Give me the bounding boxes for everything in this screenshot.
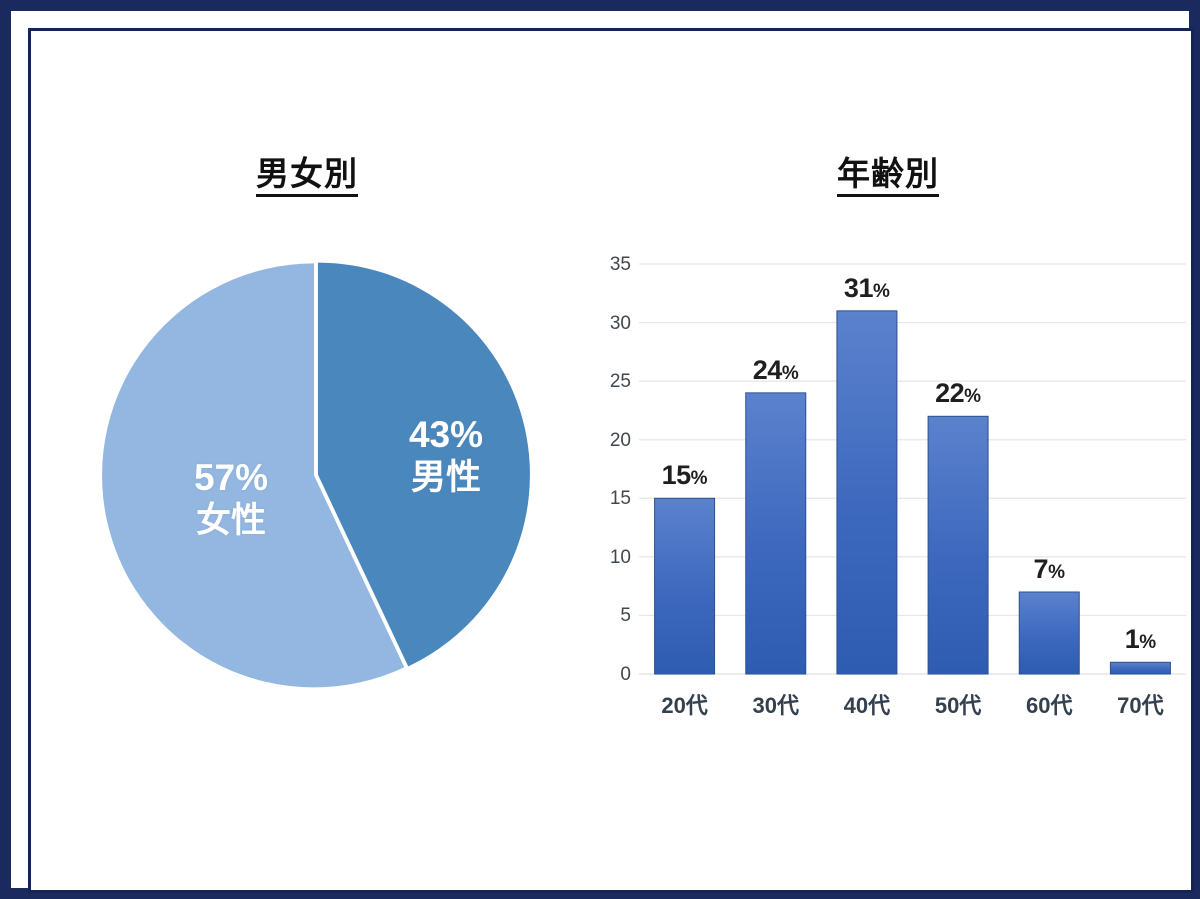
bar-value-number: 1: [1125, 624, 1140, 654]
bar-70代: [1110, 662, 1170, 674]
bar-60代: [1019, 592, 1079, 674]
bar-20代: [655, 498, 715, 674]
y-axis-labels: 05101520253035: [591, 236, 631, 696]
bar-value-number: 31: [844, 273, 873, 303]
bar-50代: [928, 416, 988, 674]
y-axis-tick-label: 10: [597, 548, 631, 567]
bar-value-label: 31%: [812, 273, 922, 304]
bar-value-label: 24%: [721, 355, 831, 386]
y-axis-tick-label: 25: [597, 372, 631, 391]
x-axis-tick-label: 70代: [1095, 688, 1185, 720]
x-axis-tick-label: 50代: [913, 688, 1003, 720]
bar-value-label: 7%: [994, 554, 1104, 585]
age-chart-title: 年齢別: [837, 156, 939, 197]
bar-30代: [746, 393, 806, 674]
bar-value-label: 22%: [903, 378, 1013, 409]
bar-value-percent-sign: %: [1048, 562, 1065, 583]
x-axis-tick-label: 30代: [731, 688, 821, 720]
x-axis-tick-label: 20代: [640, 688, 730, 720]
bar-40代: [837, 311, 897, 674]
slide-canvas: 男女別 43% 男性 57% 女性 年齢別: [31, 31, 1191, 890]
bar-value-label: 1%: [1085, 624, 1195, 655]
pie-label-male-percent: 43%: [371, 413, 521, 457]
y-axis-tick-label: 5: [597, 606, 631, 625]
bar-value-number: 24: [753, 355, 782, 385]
y-axis-tick-label: 30: [597, 314, 631, 333]
y-axis-tick-label: 0: [597, 665, 631, 684]
bar-value-number: 7: [1034, 554, 1049, 584]
pie-label-male: 43% 男性: [371, 413, 521, 498]
gender-pie-chart: 43% 男性 57% 女性: [71, 241, 571, 711]
y-axis-tick-label: 20: [597, 431, 631, 450]
gender-chart-title: 男女別: [256, 156, 358, 197]
bar-value-percent-sign: %: [873, 281, 890, 302]
pie-label-female-percent: 57%: [156, 456, 306, 500]
x-axis-tick-label: 40代: [822, 688, 912, 720]
pie-label-female-category: 女性: [156, 500, 306, 541]
bar-value-percent-sign: %: [782, 363, 799, 384]
bar-value-label: 15%: [630, 460, 740, 491]
pie-label-female: 57% 女性: [156, 456, 306, 541]
bar-value-number: 22: [935, 378, 964, 408]
bar-value-percent-sign: %: [1139, 632, 1156, 653]
slide-frame: 男女別 43% 男性 57% 女性 年齢別: [0, 0, 1200, 899]
bar-value-percent-sign: %: [964, 386, 981, 407]
bar-value-number: 15: [662, 460, 691, 490]
y-axis-tick-label: 15: [597, 489, 631, 508]
age-bar-chart: 05101520253035 20代30代40代50代60代70代 15%24%…: [571, 236, 1191, 736]
pie-label-male-category: 男性: [371, 457, 521, 498]
y-axis-tick-label: 35: [597, 255, 631, 274]
bar-value-percent-sign: %: [691, 468, 708, 489]
x-axis-tick-label: 60代: [1004, 688, 1094, 720]
